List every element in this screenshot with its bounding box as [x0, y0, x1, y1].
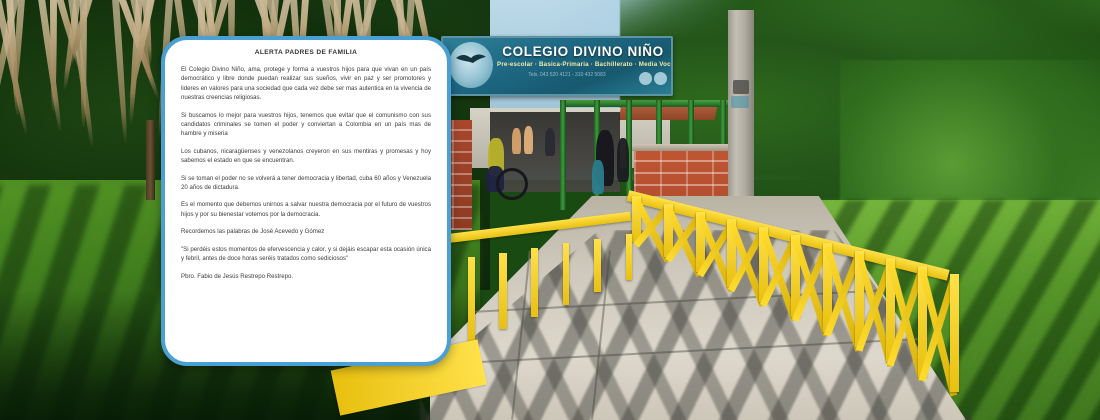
alert-paragraph: Recordemos las palabras de José Acevedo … [181, 227, 431, 236]
alert-paragraph: Pbro. Fabio de Jesús Restrepo Restrepo. [181, 272, 431, 281]
alert-paragraph: Es el momento que debemos unirnos a salv… [181, 200, 431, 219]
green-post [560, 100, 566, 210]
sign-subtitle: Pre-escolar · Basica-Primaria · Bachille… [497, 61, 667, 68]
sign-title: COLEGIO DIVINO NIÑO [501, 44, 665, 59]
alert-card-title: ALERTA PADRES DE FAMILIA [181, 49, 431, 56]
bicycle-wheel [496, 168, 528, 200]
alert-paragraph: "Si perdéis estos momentos de efervescen… [181, 245, 431, 264]
tree-trunk [146, 120, 155, 200]
person-far-b [524, 126, 533, 154]
banner-image: COLEGIO DIVINO NIÑO Pre-escolar · Basica… [0, 0, 1100, 420]
post-graffiti [731, 96, 749, 108]
alert-paragraph: Si se toman el poder no se volverá a ten… [181, 174, 431, 193]
alert-card-body: ALERTA PADRES DE FAMILIA El Colegio Divi… [165, 40, 447, 291]
sign-dot-right [654, 72, 667, 85]
alert-paragraph: Si buscamos lo mejor para vuestros hijos… [181, 111, 431, 139]
person-right-b [592, 160, 604, 194]
sign-contact: Tels. 043 520 4121 - 310 432 5083 [503, 72, 631, 78]
alert-paragraph: El Colegio Divino Niño, ama, protege y f… [181, 65, 431, 103]
post-mark [733, 80, 749, 94]
person-right-c [617, 138, 629, 182]
person-far-c [545, 128, 555, 156]
alert-paragraph: Los cubanos, nicaragüenses y venezolanos… [181, 147, 431, 166]
dove-icon [455, 52, 487, 66]
person-far-a [512, 128, 521, 154]
school-sign: COLEGIO DIVINO NIÑO Pre-escolar · Basica… [441, 36, 673, 96]
sign-dot-left [639, 72, 652, 85]
alert-card: ALERTA PADRES DE FAMILIA El Colegio Divi… [161, 36, 451, 366]
palm-frond [34, 0, 64, 133]
alert-card-paragraphs: El Colegio Divino Niño, ama, protege y f… [181, 65, 431, 281]
